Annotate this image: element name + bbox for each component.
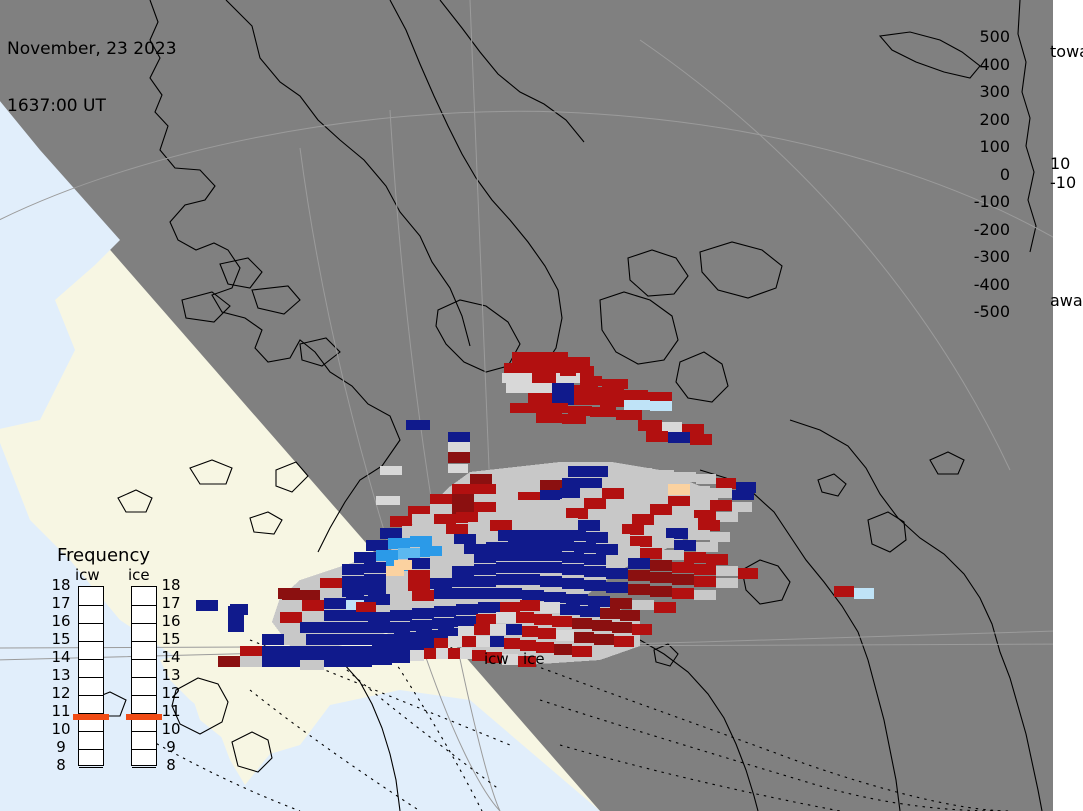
frequency-tick-ice-13: 13 xyxy=(160,666,182,684)
frequency-tick-icw-11: 11 xyxy=(50,702,72,720)
colorbar-tick--400: -400 xyxy=(954,275,1010,294)
colorbar-tick-0: 0 xyxy=(954,165,1010,184)
frequency-tick-ice-14: 14 xyxy=(160,648,182,666)
colorbar-tick--500: -500 xyxy=(954,302,1010,321)
colorbar-tick-300: 300 xyxy=(954,82,1010,101)
frequency-tick-ice-8: 8 xyxy=(160,756,182,774)
colorbar-tick-500: 500 xyxy=(954,27,1010,46)
frequency-tick-ice-10: 10 xyxy=(160,720,182,738)
colorbar-tick--200: -200 xyxy=(954,220,1010,239)
frequency-gridline xyxy=(79,605,103,606)
frequency-tick-ice-17: 17 xyxy=(160,594,182,612)
map-site-label-icw: icw xyxy=(484,650,509,668)
frequency-tick-icw-16: 16 xyxy=(50,612,72,630)
colorbar-tick--100: -100 xyxy=(954,192,1010,211)
frequency-column-label-ice: ice xyxy=(128,566,150,584)
frequency-column-label-icw: icw xyxy=(75,566,100,584)
colorbar-negative-threshold: -10 xyxy=(1050,173,1076,192)
frequency-tick-icw-14: 14 xyxy=(50,648,72,666)
timestamp-block: November, 23 2023 1637:00 UT xyxy=(7,2,177,154)
frequency-gridline xyxy=(79,695,103,696)
colorbar-toward-label: toward xyxy=(1050,42,1083,61)
timestamp-time: 1637:00 UT xyxy=(7,97,177,116)
frequency-tick-ice-15: 15 xyxy=(160,630,182,648)
frequency-tick-ice-16: 16 xyxy=(160,612,182,630)
frequency-tick-ice-12: 12 xyxy=(160,684,182,702)
frequency-tick-ice-9: 9 xyxy=(160,738,182,756)
frequency-gridline xyxy=(132,641,156,642)
frequency-gridline xyxy=(132,767,156,768)
frequency-gridline xyxy=(132,605,156,606)
fan-plot-window: icw ice November, 23 2023 1637:00 UT Vel… xyxy=(0,0,1083,811)
frequency-marker-icw xyxy=(73,714,109,720)
frequency-tick-icw-9: 9 xyxy=(50,738,72,756)
frequency-gridline xyxy=(132,749,156,750)
frequency-legend-title: Frequency xyxy=(57,545,150,566)
frequency-marker-ice xyxy=(126,714,162,720)
frequency-gridline xyxy=(79,749,103,750)
colorbar-away-label: away xyxy=(1050,291,1083,310)
frequency-tick-icw-18: 18 xyxy=(50,576,72,594)
frequency-tick-icw-10: 10 xyxy=(50,720,72,738)
colorbar-tick-100: 100 xyxy=(954,137,1010,156)
frequency-gridline xyxy=(132,677,156,678)
frequency-tick-icw-13: 13 xyxy=(50,666,72,684)
colorbar-tick--300: -300 xyxy=(954,247,1010,266)
frequency-tick-icw-8: 8 xyxy=(50,756,72,774)
colorbar-tick-200: 200 xyxy=(954,110,1010,129)
frequency-bar-ice xyxy=(131,586,157,766)
colorbar-positive-threshold: 10 xyxy=(1050,154,1070,173)
colorbar-tick-400: 400 xyxy=(954,55,1010,74)
frequency-gridline xyxy=(79,623,103,624)
map-site-label-ice: ice xyxy=(523,650,545,668)
timestamp-date: November, 23 2023 xyxy=(7,40,177,59)
frequency-bar-icw xyxy=(78,586,104,766)
frequency-tick-ice-18: 18 xyxy=(160,576,182,594)
frequency-gridline xyxy=(132,731,156,732)
frequency-gridline xyxy=(79,677,103,678)
frequency-tick-ice-11: 11 xyxy=(160,702,182,720)
frequency-gridline xyxy=(79,767,103,768)
frequency-gridline xyxy=(132,623,156,624)
frequency-tick-icw-12: 12 xyxy=(50,684,72,702)
frequency-gridline xyxy=(79,731,103,732)
frequency-tick-icw-17: 17 xyxy=(50,594,72,612)
frequency-tick-icw-15: 15 xyxy=(50,630,72,648)
frequency-legend: Frequency icw ice 1817161514131211109818… xyxy=(45,545,185,785)
frequency-gridline xyxy=(132,659,156,660)
frequency-gridline xyxy=(79,659,103,660)
frequency-gridline xyxy=(79,641,103,642)
frequency-gridline xyxy=(132,695,156,696)
